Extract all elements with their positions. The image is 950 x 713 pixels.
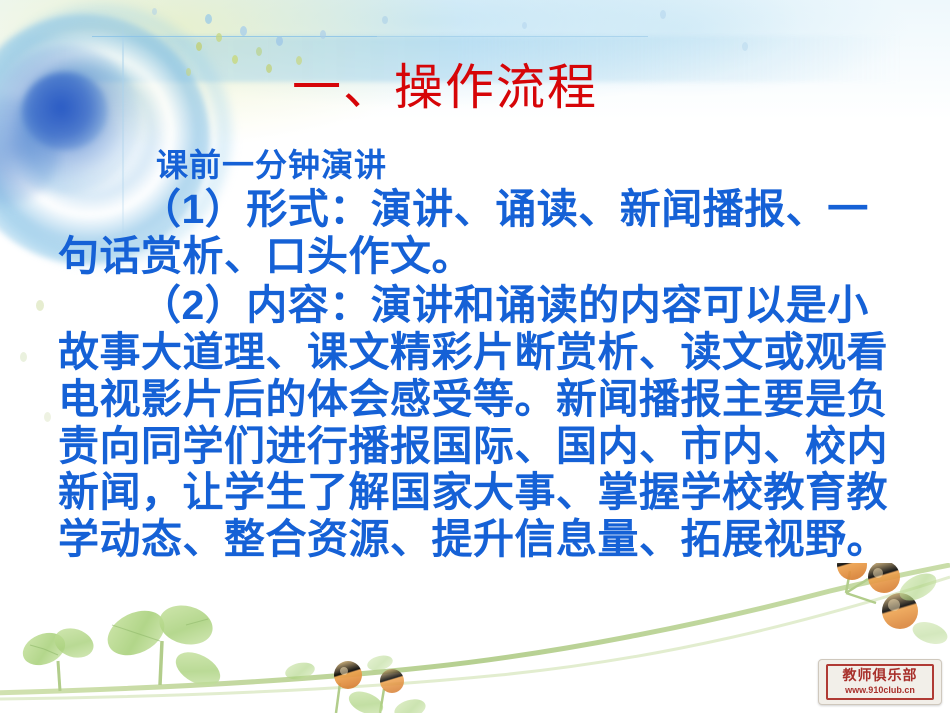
slide-canvas: 一、操作流程 课前一分钟演讲 （1）形式：演讲、诵读、新闻播报、一句话赏析、口头… <box>0 0 950 713</box>
speckle-dot <box>660 10 666 19</box>
watercolor-branch-leaves-berries <box>0 563 950 713</box>
thin-rule <box>92 36 377 37</box>
slide-body: 课前一分钟演讲 （1）形式：演讲、诵读、新闻播报、一句话赏析、口头作文。 （2）… <box>58 148 898 563</box>
speckle-dot <box>44 412 51 422</box>
slide-title: 一、操作流程 <box>0 62 950 115</box>
logo-url-text: www.910club.cn <box>845 686 915 695</box>
speckle-dot <box>240 26 247 36</box>
speckle-dot <box>216 33 222 42</box>
speckle-dot <box>152 8 157 15</box>
speckle-dot <box>36 300 44 311</box>
logo-name: 教师俱乐部 <box>843 670 918 684</box>
speckle-dot <box>742 42 748 51</box>
body-paragraph-2: （2）内容：演讲和诵读的内容可以是小故事大道理、课文精彩片断赏析、读文或观看电视… <box>58 282 898 564</box>
thin-rule-secondary <box>318 36 648 37</box>
body-paragraph-1: （1）形式：演讲、诵读、新闻播报、一句话赏析、口头作文。 <box>58 186 898 280</box>
speckle-dot <box>522 22 527 29</box>
logo-inner-frame: 教师俱乐部 www.910club.cn <box>826 664 934 700</box>
speckle-dot <box>196 42 202 51</box>
body-lead-line: 课前一分钟演讲 <box>58 148 898 184</box>
logo-watermark: 教师俱乐部 www.910club.cn <box>818 659 942 705</box>
speckle-dot <box>276 36 283 46</box>
speckle-dot <box>205 14 212 24</box>
speckle-dot <box>20 352 27 362</box>
speckle-dot <box>256 47 262 56</box>
speckle-dot <box>320 30 326 39</box>
speckle-dot <box>382 16 388 24</box>
